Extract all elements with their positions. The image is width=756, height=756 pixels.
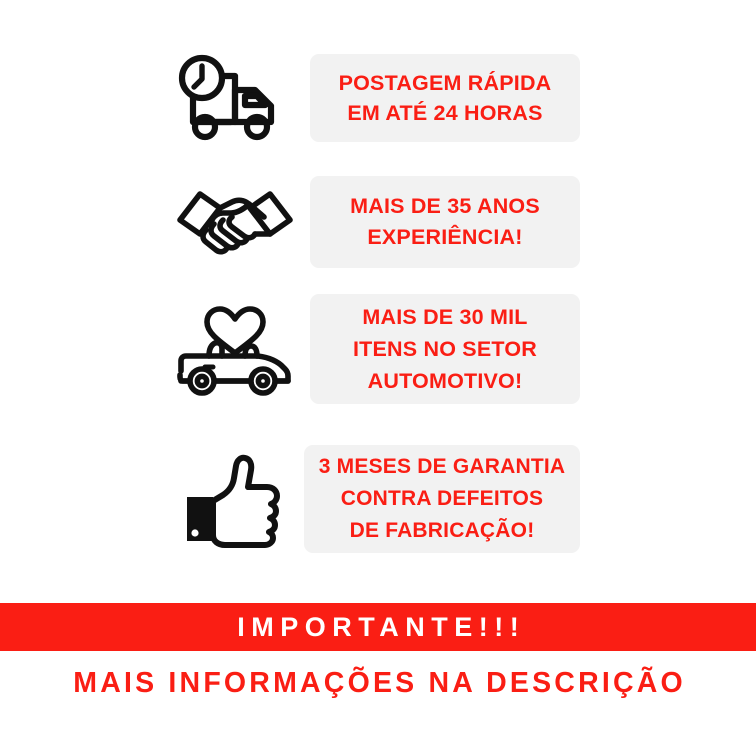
important-banner-title: IMPORTANTE!!! (231, 612, 525, 643)
feature-row: MAIS DE 35 ANOS EXPERIÊNCIA! (160, 168, 600, 276)
feature-text-line: EM ATÉ 24 HORAS (347, 98, 542, 128)
thumbs-up-icon (160, 447, 310, 552)
feature-text-box: MAIS DE 30 MIL ITENS NO SETOR AUTOMOTIVO… (310, 294, 580, 404)
handshake-icon (160, 170, 310, 275)
feature-text-line: CONTRA DEFEITOS (341, 483, 544, 515)
feature-text-line: MAIS DE 35 ANOS (350, 191, 540, 222)
feature-text-line: AUTOMOTIVO! (368, 365, 523, 397)
feature-text-line: POSTAGEM RÁPIDA (339, 68, 552, 98)
feature-text-box: 3 MESES DE GARANTIA CONTRA DEFEITOS DE F… (304, 445, 580, 553)
feature-text-line: ITENS NO SETOR (353, 333, 537, 365)
delivery-truck-clock-icon (160, 46, 310, 151)
feature-text-line: EXPERIÊNCIA! (367, 222, 522, 253)
feature-text-line: DE FABRICAÇÃO! (350, 515, 535, 547)
car-heart-icon (160, 297, 310, 402)
feature-text-box: MAIS DE 35 ANOS EXPERIÊNCIA! (310, 176, 580, 268)
banner-subtitle-row: MAIS INFORMAÇÕES NA DESCRIÇÃO (0, 655, 756, 711)
feature-list: POSTAGEM RÁPIDA EM ATÉ 24 HORAS (0, 0, 756, 596)
banner-subtitle: MAIS INFORMAÇÕES NA DESCRIÇÃO (70, 667, 686, 700)
feature-text-line: MAIS DE 30 MIL (362, 301, 527, 333)
feature-text-line: 3 MESES DE GARANTIA (319, 451, 566, 483)
important-banner-bar: IMPORTANTE!!! (0, 603, 756, 651)
feature-row: MAIS DE 30 MIL ITENS NO SETOR AUTOMOTIVO… (160, 288, 600, 410)
promo-banner-page: POSTAGEM RÁPIDA EM ATÉ 24 HORAS (0, 0, 756, 756)
feature-row: 3 MESES DE GARANTIA CONTRA DEFEITOS DE F… (160, 438, 600, 560)
feature-text-box: POSTAGEM RÁPIDA EM ATÉ 24 HORAS (310, 54, 580, 142)
feature-row: POSTAGEM RÁPIDA EM ATÉ 24 HORAS (160, 42, 600, 154)
